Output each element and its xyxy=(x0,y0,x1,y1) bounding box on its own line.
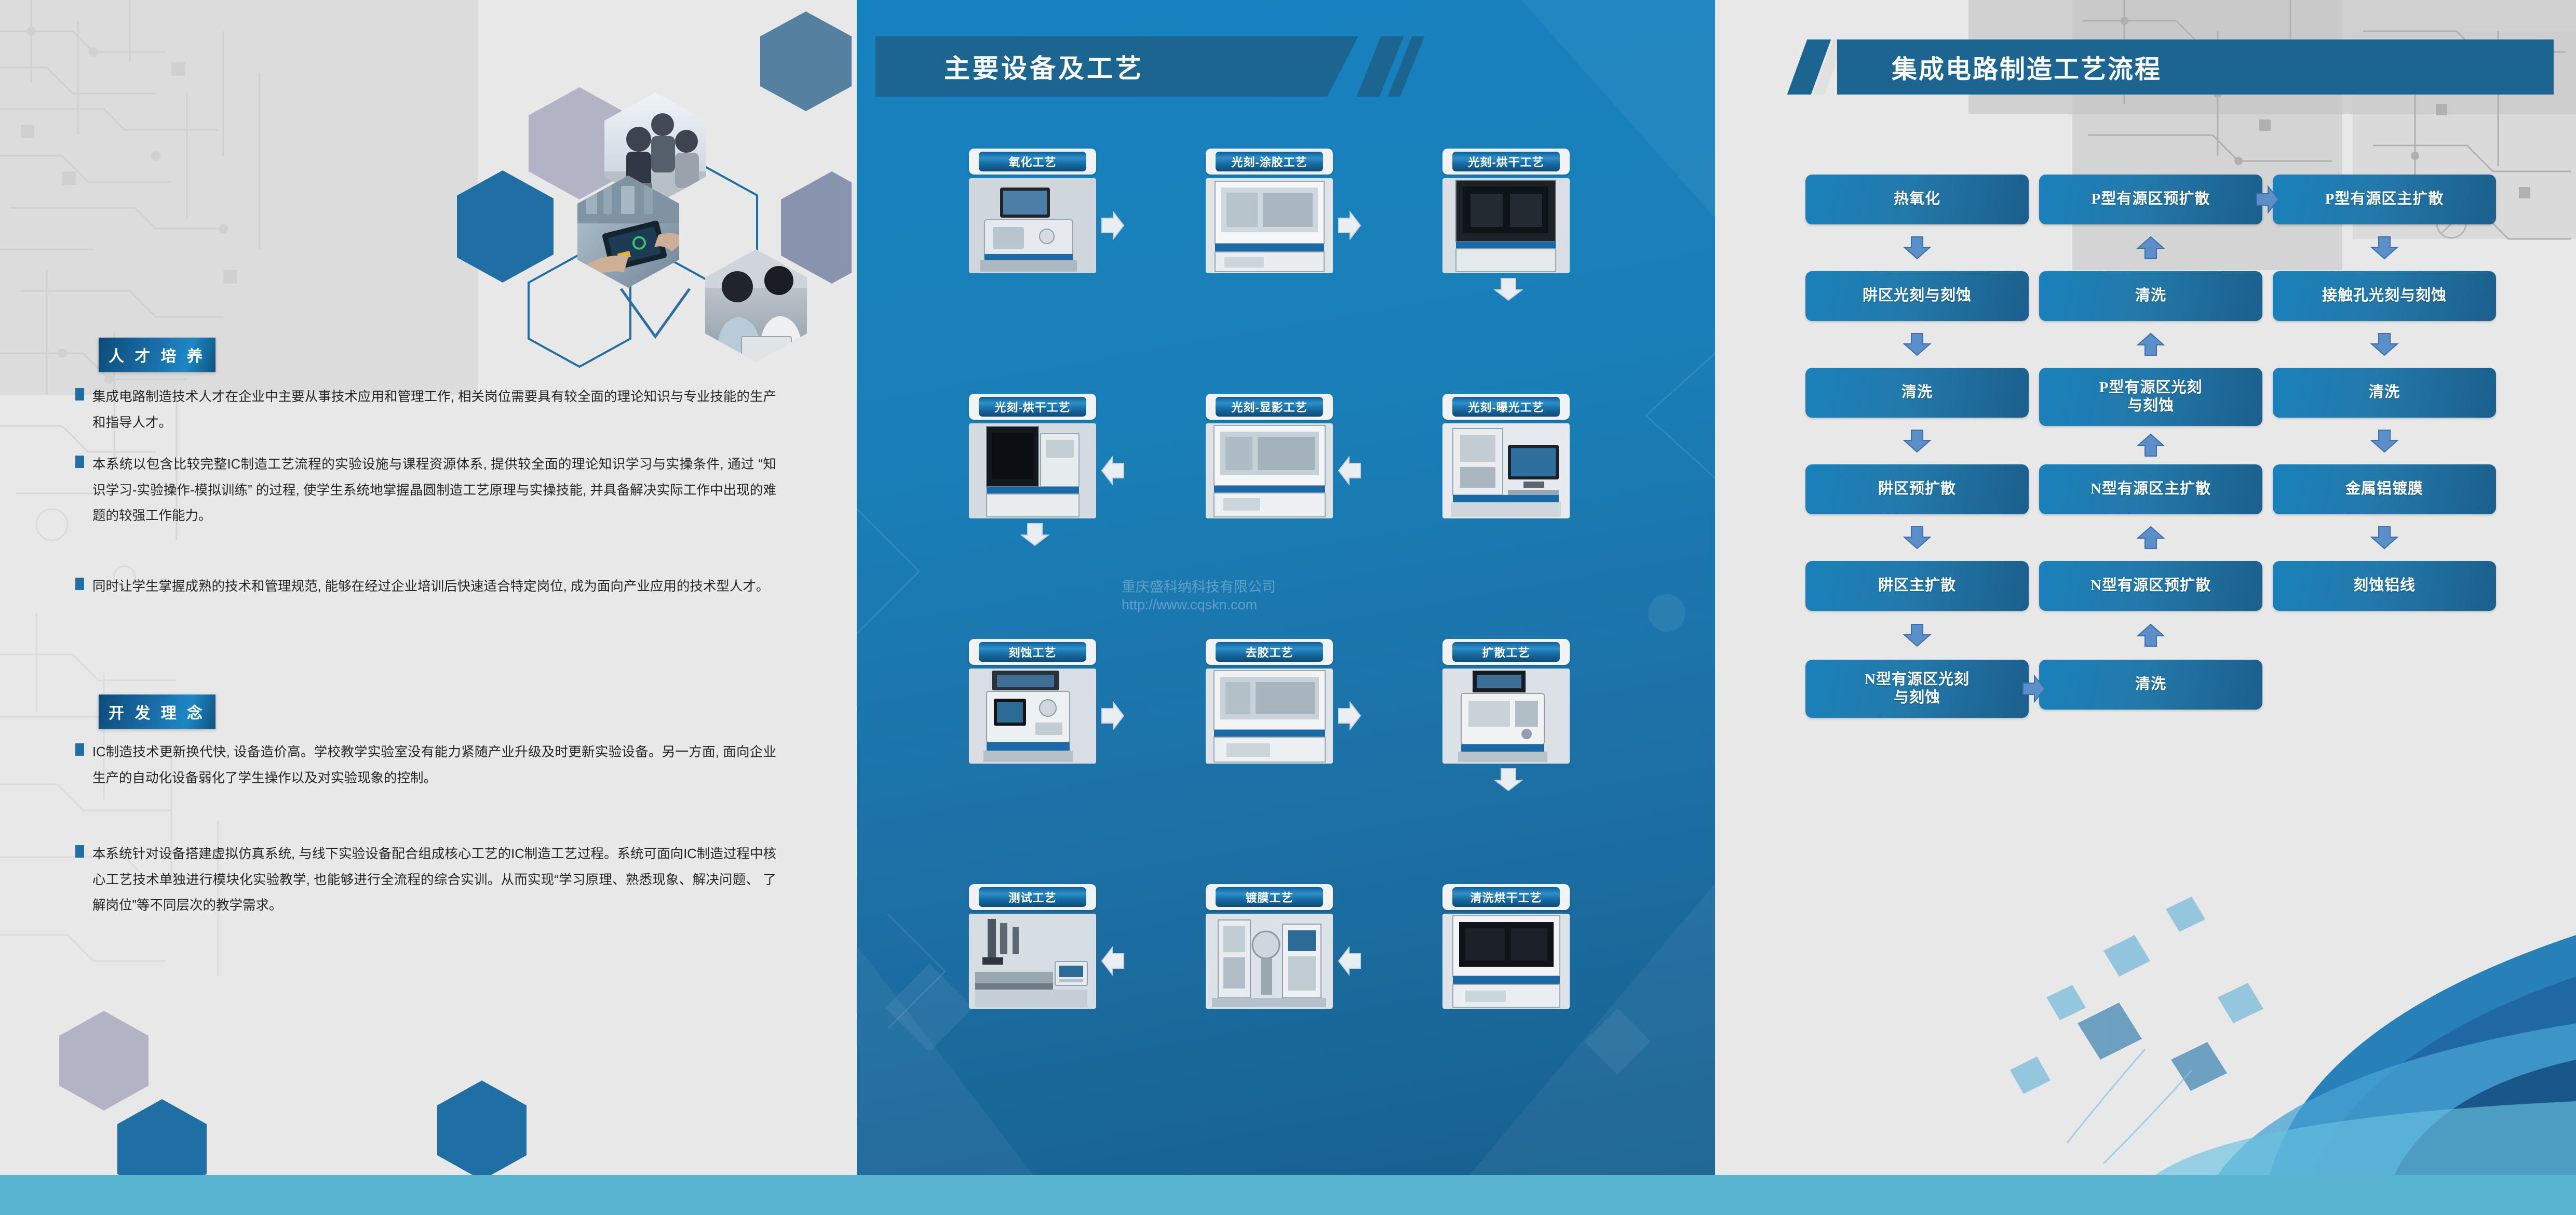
flow-arrow-col2-4 xyxy=(2136,526,2165,550)
flow-box-label: 清洗 xyxy=(2369,383,2400,402)
flow-box-col2-2[interactable]: 清洗 xyxy=(2039,271,2262,321)
equipment-label-inner: 光刻-曝光工艺 xyxy=(1452,397,1560,417)
equipment-label-text: 镀膜工艺 xyxy=(1245,889,1293,905)
flow-box-label: 清洗 xyxy=(2135,675,2166,694)
flow-arrow-down xyxy=(1494,768,1523,792)
flow-arrow-col3-2 xyxy=(2370,332,2399,356)
bullet-square xyxy=(75,578,84,590)
flow-arrow-right xyxy=(1338,701,1361,730)
circuit-lines-decor xyxy=(0,0,322,623)
equipment-label-text: 光刻-曝光工艺 xyxy=(1468,398,1544,415)
equipment-grid: 氧化工艺 光刻-涂胶工艺 光刻-烘干工艺 光刻-烘干工艺 xyxy=(857,149,1715,1129)
equipment-photo xyxy=(969,423,1096,518)
hexagon-cluster xyxy=(457,0,852,395)
flow-box-label: 接触孔光刻与刻蚀 xyxy=(2322,286,2447,305)
section-tag-concept: 开 发 理 念 xyxy=(99,695,215,729)
flow-arrow-bridge-top xyxy=(2256,185,2280,214)
equipment-row: 刻蚀工艺 去胶工艺 扩散工艺 xyxy=(857,639,1715,884)
equipment-card[interactable]: 去胶工艺 xyxy=(1206,639,1333,764)
equipment-photo xyxy=(969,669,1096,764)
flow-arrow-col1-3 xyxy=(1903,429,1932,453)
equipment-label-text: 扩散工艺 xyxy=(1482,644,1530,660)
equipment-label-text: 光刻-烘干工艺 xyxy=(994,398,1070,415)
flow-box-col2-1[interactable]: P型有源区预扩散 xyxy=(2039,175,2262,224)
flow-arrow-col2-2 xyxy=(2136,332,2165,356)
flow-box-col1-3[interactable]: 清洗 xyxy=(1805,368,2029,418)
flow-arrow-left xyxy=(1338,946,1361,976)
flow-box-label: 刻蚀铝线 xyxy=(2353,576,2416,595)
flow-arrow-col2-5 xyxy=(2136,623,2165,647)
equipment-label-inner: 氧化工艺 xyxy=(979,152,1086,171)
equipment-card[interactable]: 光刻-烘干工艺 xyxy=(969,394,1096,518)
equipment-label-inner: 光刻-烘干工艺 xyxy=(1452,152,1560,171)
flow-box-label: N型有源区光刻与刻蚀 xyxy=(1865,671,1970,707)
equipment-photo xyxy=(1442,914,1570,1009)
equipment-label-chip: 去胶工艺 xyxy=(1206,639,1333,665)
equipment-label-chip: 光刻-烘干工艺 xyxy=(969,394,1096,420)
equipment-row: 光刻-烘干工艺 光刻-显影工艺 光刻-曝光工艺 xyxy=(857,394,1715,639)
equipment-photo xyxy=(1442,423,1570,518)
equipment-label-chip: 光刻-曝光工艺 xyxy=(1442,394,1570,420)
equipment-label-chip: 光刻-涂胶工艺 xyxy=(1206,149,1333,175)
equipment-card[interactable]: 氧化工艺 xyxy=(969,149,1096,273)
equipment-card[interactable]: 光刻-烘干工艺 xyxy=(1442,149,1570,273)
equipment-label-text: 光刻-涂胶工艺 xyxy=(1231,153,1307,170)
right-panel: 集成电路制造工艺流程 热氧化阱区光刻与刻蚀清洗阱区预扩散阱区主扩散N型有源区光刻… xyxy=(1719,0,2576,1175)
equipment-row: 氧化工艺 光刻-涂胶工艺 光刻-烘干工艺 xyxy=(857,149,1715,394)
photo-hex-students xyxy=(705,249,809,364)
flow-box-label: 金属铝镀膜 xyxy=(2345,479,2423,499)
equipment-photo xyxy=(1442,669,1570,764)
flow-box-col2-3[interactable]: P型有源区光刻与刻蚀 xyxy=(2039,368,2262,426)
flow-arrow-col3-3 xyxy=(2370,429,2399,453)
equipment-label-inner: 光刻-显影工艺 xyxy=(1216,397,1323,417)
paragraph-text: 集成电路制造技术人才在企业中主要从事技术应用和管理工作, 相关岗位需要具有较全面… xyxy=(92,384,776,436)
bullet-square xyxy=(75,743,84,756)
paragraph-talent-2: 本系统以包含比较完整IC制造工艺流程的实验设施与课程资源体系, 提供较全面的理论… xyxy=(75,452,776,529)
equipment-row: 测试工艺 镀膜工艺 清洗烘干工艺 xyxy=(857,884,1715,1129)
equipment-label-chip: 氧化工艺 xyxy=(969,149,1096,175)
right-title-bar: 集成电路制造工艺流程 xyxy=(1837,39,2554,95)
flow-arrow-col1-5 xyxy=(1903,623,1932,647)
bottom-accent-bar xyxy=(0,1175,2576,1215)
equipment-photo xyxy=(969,914,1096,1009)
flow-box-col1-2[interactable]: 阱区光刻与刻蚀 xyxy=(1805,271,2029,321)
equipment-photo xyxy=(1206,423,1333,518)
left-panel: 人 才 培 养 集成电路制造技术人才在企业中主要从事技术应用和管理工作, 相关岗… xyxy=(0,0,853,1175)
flow-arrow-col2-1 xyxy=(2136,236,2165,260)
equipment-photo xyxy=(1206,178,1333,273)
paragraph-text: 同时让学生掌握成熟的技术和管理规范, 能够在经过企业培训后快速适合特定岗位, 成… xyxy=(92,574,769,600)
equipment-label-text: 去胶工艺 xyxy=(1245,644,1293,660)
flow-arrow-bridge-bottom xyxy=(2022,674,2046,703)
flow-arrow-col1-4 xyxy=(1903,526,1932,550)
flow-arrow-col1-2 xyxy=(1903,332,1932,356)
equipment-photo xyxy=(1442,178,1570,273)
equipment-card[interactable]: 光刻-显影工艺 xyxy=(1206,394,1333,518)
flow-arrow-right xyxy=(1338,211,1361,240)
flow-arrow-left xyxy=(1101,946,1125,976)
section-tag-talent: 人 才 培 养 xyxy=(99,338,215,372)
flow-box-label: N型有源区预扩散 xyxy=(2091,576,2211,595)
equipment-label-inner: 光刻-涂胶工艺 xyxy=(1216,152,1323,171)
flow-box-label: P型有源区光刻与刻蚀 xyxy=(2099,379,2203,416)
paragraph-talent-1: 集成电路制造技术人才在企业中主要从事技术应用和管理工作, 相关岗位需要具有较全面… xyxy=(75,384,776,436)
equipment-label-chip: 测试工艺 xyxy=(969,884,1096,910)
equipment-label-inner: 去胶工艺 xyxy=(1216,642,1323,662)
flow-arrow-down xyxy=(1020,523,1049,546)
flow-box-col3-2[interactable]: 接触孔光刻与刻蚀 xyxy=(2273,271,2496,321)
bullet-square xyxy=(75,456,84,468)
equipment-card[interactable]: 测试工艺 xyxy=(969,884,1096,1009)
flow-arrow-down xyxy=(1494,277,1523,301)
equipment-label-text: 刻蚀工艺 xyxy=(1008,644,1056,660)
flow-arrow-col1-1 xyxy=(1903,236,1932,260)
paragraph-text: 本系统以包含比较完整IC制造工艺流程的实验设施与课程资源体系, 提供较全面的理论… xyxy=(92,452,776,529)
equipment-label-text: 光刻-显影工艺 xyxy=(1231,398,1307,415)
equipment-card[interactable]: 刻蚀工艺 xyxy=(969,639,1096,764)
equipment-photo xyxy=(969,178,1096,273)
flow-arrow-right xyxy=(1101,701,1125,730)
equipment-card[interactable]: 光刻-涂胶工艺 xyxy=(1206,149,1333,273)
equipment-label-inner: 清洗烘干工艺 xyxy=(1452,887,1560,907)
flow-box-col1-5[interactable]: 阱区主扩散 xyxy=(1805,561,2029,611)
flow-box-label: 清洗 xyxy=(1901,383,1933,402)
equipment-card[interactable]: 光刻-曝光工艺 xyxy=(1442,394,1570,518)
flow-arrow-right xyxy=(1101,211,1125,240)
equipment-card[interactable]: 清洗烘干工艺 xyxy=(1442,884,1570,1009)
flow-box-label: 清洗 xyxy=(2135,286,2166,305)
flow-box-col2-4[interactable]: N型有源区主扩散 xyxy=(2039,464,2262,514)
equipment-label-text: 测试工艺 xyxy=(1008,889,1056,905)
flow-box-col3-1[interactable]: P型有源区主扩散 xyxy=(2273,175,2496,224)
flow-arrow-left xyxy=(1101,456,1125,485)
paragraph-concept-2: 本系统针对设备搭建虚拟仿真系统, 与线下实验设备配合组成核心工艺的IC制造工艺过… xyxy=(75,842,776,919)
flow-box-label: 阱区主扩散 xyxy=(1878,576,1956,595)
equipment-photo xyxy=(1206,669,1333,764)
equipment-label-chip: 清洗烘干工艺 xyxy=(1442,884,1570,910)
flow-box-col2-6[interactable]: 清洗 xyxy=(2039,660,2262,710)
flow-box-label: 阱区预扩散 xyxy=(1878,479,1956,499)
hexagon-footer-decor xyxy=(52,1003,571,1175)
flow-box-label: P型有源区主扩散 xyxy=(2325,190,2444,209)
flow-arrow-col2-3 xyxy=(2136,433,2165,457)
flow-box-col1-4[interactable]: 阱区预扩散 xyxy=(1805,464,2029,514)
flow-box-col2-5[interactable]: N型有源区预扩散 xyxy=(2039,561,2262,611)
paragraph-concept-1: IC制造技术更新换代快, 设备造价高。学校教学实验室没有能力紧随产业升级及时更新… xyxy=(75,740,776,791)
right-title-text: 集成电路制造工艺流程 xyxy=(1892,49,2162,86)
paragraph-text: 本系统针对设备搭建虚拟仿真系统, 与线下实验设备配合组成核心工艺的IC制造工艺过… xyxy=(92,842,776,919)
bullet-square xyxy=(75,845,84,858)
right-wave-decor xyxy=(1948,779,2576,1175)
middle-title-bar: 主要设备及工艺 xyxy=(875,36,1358,97)
middle-title-text: 主要设备及工艺 xyxy=(944,48,1144,85)
paragraph-text: IC制造技术更新换代快, 设备造价高。学校教学实验室没有能力紧随产业升级及时更新… xyxy=(92,740,776,791)
equipment-label-inner: 镀膜工艺 xyxy=(1216,887,1323,907)
equipment-label-inner: 扩散工艺 xyxy=(1452,642,1560,662)
flow-box-col1-1[interactable]: 热氧化 xyxy=(1805,175,2029,224)
equipment-label-chip: 扩散工艺 xyxy=(1442,639,1570,665)
equipment-label-chip: 刻蚀工艺 xyxy=(969,639,1096,665)
paragraph-talent-3: 同时让学生掌握成熟的技术和管理规范, 能够在经过企业培训后快速适合特定岗位, 成… xyxy=(75,574,776,600)
flow-box-label: P型有源区预扩散 xyxy=(2092,190,2210,209)
flow-arrow-col3-1 xyxy=(2370,236,2399,260)
equipment-label-text: 光刻-烘干工艺 xyxy=(1468,153,1544,170)
equipment-card[interactable]: 镀膜工艺 xyxy=(1206,884,1333,1009)
flow-arrow-col3-4 xyxy=(2370,526,2399,550)
equipment-card[interactable]: 扩散工艺 xyxy=(1442,639,1570,764)
equipment-label-inner: 光刻-烘干工艺 xyxy=(979,397,1086,417)
flow-box-label: 热氧化 xyxy=(1894,190,1940,209)
middle-panel: 主要设备及工艺 氧化工艺 光刻-涂胶工艺 光刻-烘干工艺 xyxy=(857,0,1715,1175)
equipment-photo xyxy=(1206,914,1333,1009)
flow-box-col3-5[interactable]: 刻蚀铝线 xyxy=(2273,561,2496,611)
flow-box-col3-4[interactable]: 金属铝镀膜 xyxy=(2273,464,2496,514)
poster-canvas: 人 才 培 养 集成电路制造技术人才在企业中主要从事技术应用和管理工作, 相关岗… xyxy=(0,0,2576,1215)
equipment-label-text: 清洗烘干工艺 xyxy=(1470,889,1542,905)
bullet-square xyxy=(75,388,84,400)
equipment-label-chip: 光刻-烘干工艺 xyxy=(1442,149,1570,175)
flow-box-col3-3[interactable]: 清洗 xyxy=(2273,368,2496,418)
equipment-label-inner: 刻蚀工艺 xyxy=(979,642,1086,662)
equipment-label-text: 氧化工艺 xyxy=(1008,153,1056,170)
equipment-label-chip: 镀膜工艺 xyxy=(1206,884,1333,910)
flow-box-label: 阱区光刻与刻蚀 xyxy=(1863,286,1972,305)
flow-box-col1-6[interactable]: N型有源区光刻与刻蚀 xyxy=(1805,660,2029,718)
flow-arrow-left xyxy=(1338,456,1361,485)
flow-box-label: N型有源区主扩散 xyxy=(2091,479,2211,499)
equipment-label-chip: 光刻-显影工艺 xyxy=(1206,394,1333,420)
equipment-label-inner: 测试工艺 xyxy=(979,887,1086,907)
